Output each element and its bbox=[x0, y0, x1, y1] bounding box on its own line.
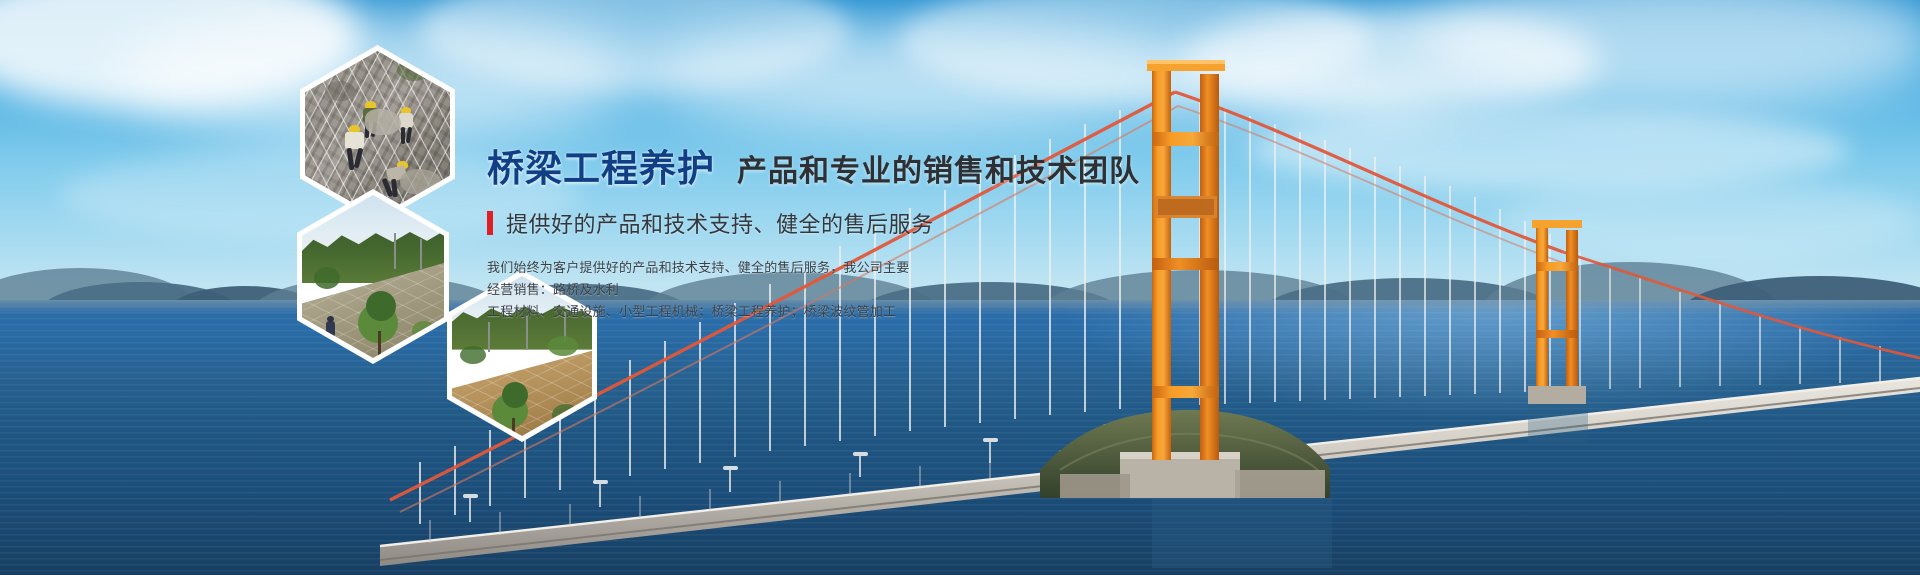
photo-slope-protection-image bbox=[302, 195, 444, 358]
headline-row: 桥梁工程养护 产品和专业的销售和技术团队 bbox=[487, 150, 1247, 187]
body-line-1: 我们始终为客户提供好的产品和技术支持、健全的售后服务，我公司主要经营销售：路桥及… bbox=[487, 257, 917, 301]
body-line-2: 工程材料、交通设施、小型工程机械；桥梁工程养护；桥梁波纹管加工 bbox=[487, 301, 917, 323]
banner-text-block: 桥梁工程养护 产品和专业的销售和技术团队 提供好的产品和技术支持、健全的售后服务… bbox=[487, 150, 1247, 323]
headline-primary: 桥梁工程养护 bbox=[487, 150, 715, 187]
headline-secondary: 产品和专业的销售和技术团队 bbox=[737, 157, 1140, 187]
subheadline-text: 提供好的产品和技术支持、健全的售后服务 bbox=[506, 207, 934, 239]
accent-bar-icon bbox=[487, 211, 493, 235]
photo-hex-slope-protection[interactable] bbox=[297, 189, 449, 364]
subheadline-row: 提供好的产品和技术支持、健全的售后服务 bbox=[487, 207, 1247, 239]
banner-body-copy: 我们始终为客户提供好的产品和技术支持、健全的售后服务，我公司主要经营销售：路桥及… bbox=[487, 257, 917, 323]
hero-banner: 桥梁工程养护 产品和专业的销售和技术团队 提供好的产品和技术支持、健全的售后服务… bbox=[0, 0, 1920, 575]
